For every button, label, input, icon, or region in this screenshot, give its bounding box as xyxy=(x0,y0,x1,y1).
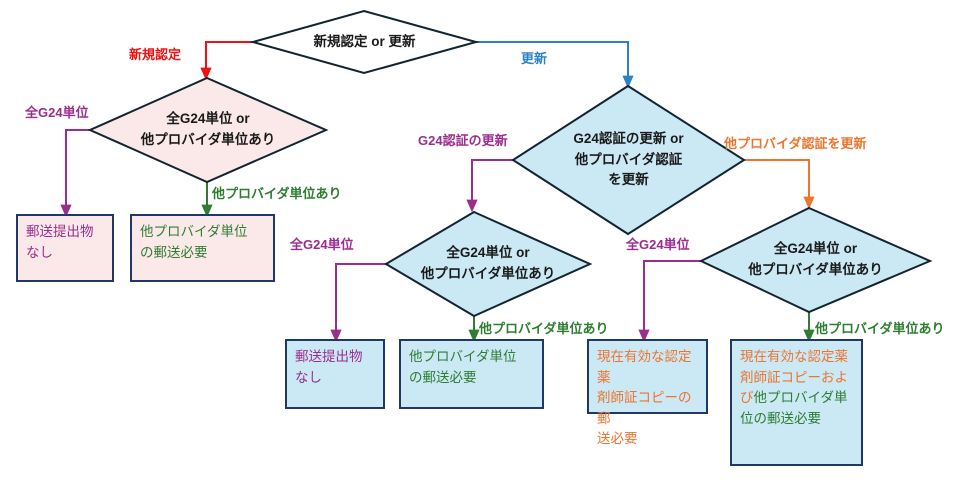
edge-label-left-other-provider: 他プロバイダ単位あり xyxy=(212,187,341,200)
node-left-box-other-line1: 他プロバイダ単位 xyxy=(140,222,266,243)
connector-other-provider-cert-renewal xyxy=(744,160,809,205)
node-mid-box-other-line1: 他プロバイダ単位 xyxy=(409,347,535,368)
node-right-box-cert-label: 現在有効な認定薬 剤師証コピーの郵 送必要 xyxy=(588,340,707,413)
node-mid-box-none-line2: なし xyxy=(295,368,376,389)
node-root-diamond[interactable] xyxy=(253,11,476,73)
node-right-diamond[interactable] xyxy=(701,208,930,312)
flowchart-canvas: 新規認定 or 更新 全G24単位 or 他プロバイダ単位あり 郵送提出物 なし… xyxy=(0,0,980,500)
node-left-box-other-label: 他プロバイダ単位 の郵送必要 xyxy=(131,215,274,281)
node-left-box-other-line2: の郵送必要 xyxy=(140,243,266,264)
node-right-box-both-green: 他プロバイダ単位の郵送必要 xyxy=(740,390,847,426)
node-left-box-none-line1: 郵送提出物 xyxy=(26,222,105,243)
node-left-box-none-line2: なし xyxy=(26,243,105,264)
node-right-box-cert-line2: 剤師証コピーの郵 xyxy=(597,388,699,429)
node-mid-box-other-line2: の郵送必要 xyxy=(409,368,535,389)
connector-new-cert xyxy=(206,42,253,76)
edge-label-right-all-g24: 全G24単位 xyxy=(626,238,690,251)
edge-label-g24-cert-renewal: G24認証の更新 xyxy=(418,134,508,147)
node-renewal-diamond[interactable] xyxy=(513,86,744,234)
node-right-box-cert-line3: 送必要 xyxy=(597,429,699,450)
node-mid-box-none-label: 郵送提出物 なし xyxy=(286,340,384,408)
node-left-box-none-label: 郵送提出物 なし xyxy=(17,215,113,281)
edge-label-new-cert: 新規認定 xyxy=(129,48,181,61)
connector-right-all-g24 xyxy=(644,261,701,338)
node-left-diamond[interactable] xyxy=(90,78,326,182)
edge-label-left-all-g24: 全G24単位 xyxy=(25,106,89,119)
edge-label-mid-all-g24: 全G24単位 xyxy=(290,238,354,251)
connector-g24-cert-renewal xyxy=(472,160,513,208)
connector-mid-all-g24 xyxy=(336,264,386,338)
node-right-box-cert-line1: 現在有効な認定薬 xyxy=(597,347,699,388)
connector-left-all-g24 xyxy=(66,130,90,213)
edge-label-right-other-provider: 他プロバイダ単位あり xyxy=(815,322,944,335)
connector-renewal xyxy=(476,42,628,84)
edge-label-mid-other-provider: 他プロバイダ単位あり xyxy=(479,322,608,335)
node-mid-box-none-line1: 郵送提出物 xyxy=(295,347,376,368)
node-mid-box-other-label: 他プロバイダ単位 の郵送必要 xyxy=(400,340,543,408)
edge-label-renewal: 更新 xyxy=(521,52,547,65)
edge-label-other-provider-cert-renewal: 他プロバイダ認証を更新 xyxy=(724,137,866,150)
node-right-box-both-label: 現在有効な認定薬剤師証コピーおよび他プロバイダ単位の郵送必要 xyxy=(731,340,862,465)
node-mid-diamond[interactable] xyxy=(386,212,590,316)
